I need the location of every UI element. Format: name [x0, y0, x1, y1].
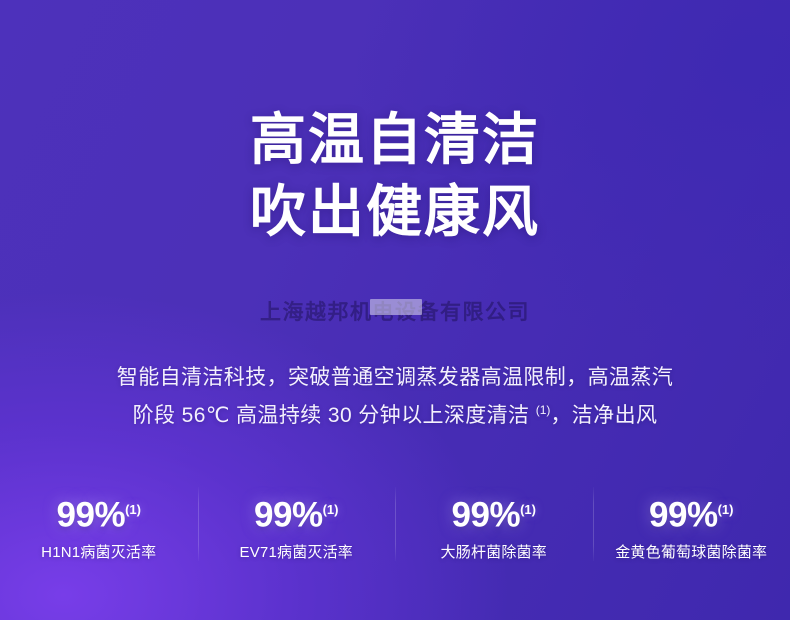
body-line-2-before: 阶段 56℃ 高温持续 30 分钟以上深度清洁 — [133, 404, 536, 427]
body-copy: 智能自清洁科技，突破普通空调蒸发器高温限制，高温蒸汽 阶段 56℃ 高温持续 3… — [0, 362, 790, 432]
body-line-1: 智能自清洁科技，突破普通空调蒸发器高温限制，高温蒸汽 — [0, 362, 790, 394]
stat-item: 99%(1) EV71病菌灭活率 — [198, 487, 396, 563]
stat-value: 99%(1) — [57, 489, 141, 537]
stat-value-number: 99% — [649, 496, 718, 535]
stat-item: 99%(1) 大肠杆菌除菌率 — [395, 487, 593, 563]
stat-value-number: 99% — [254, 496, 323, 535]
stat-footnote-marker: (1) — [520, 502, 536, 517]
watermark-overlay-chip — [370, 299, 422, 315]
stat-footnote-marker: (1) — [718, 502, 734, 517]
stats-row: 99%(1) H1N1病菌灭活率 99%(1) EV71病菌灭活率 99%(1)… — [0, 487, 790, 567]
stat-value: 99%(1) — [254, 489, 338, 537]
stat-label: EV71病菌灭活率 — [198, 543, 396, 563]
stat-item: 99%(1) 金黄色葡萄球菌除菌率 — [593, 487, 790, 563]
stat-label: H1N1病菌灭活率 — [0, 543, 198, 563]
headline: 高温自清洁 吹出健康风 — [0, 104, 790, 248]
stat-value-number: 99% — [452, 496, 521, 535]
stat-value: 99%(1) — [452, 489, 536, 537]
body-footnote-marker: (1) — [536, 403, 551, 417]
headline-line-2: 吹出健康风 — [0, 176, 790, 248]
stat-footnote-marker: (1) — [323, 502, 339, 517]
stat-label: 大肠杆菌除菌率 — [395, 543, 593, 563]
stat-value-number: 99% — [57, 496, 126, 535]
body-line-2: 阶段 56℃ 高温持续 30 分钟以上深度清洁 (1)，洁净出风 — [0, 394, 790, 432]
promo-poster: 高温自清洁 吹出健康风 上海越邦机电设备有限公司 智能自清洁科技，突破普通空调蒸… — [0, 0, 790, 620]
stat-footnote-marker: (1) — [125, 502, 141, 517]
stat-item: 99%(1) H1N1病菌灭活率 — [0, 487, 198, 563]
body-line-2-after: ，洁净出风 — [550, 404, 657, 427]
stat-label: 金黄色葡萄球菌除菌率 — [593, 543, 790, 563]
stat-value: 99%(1) — [649, 489, 733, 537]
headline-line-1: 高温自清洁 — [0, 104, 790, 176]
